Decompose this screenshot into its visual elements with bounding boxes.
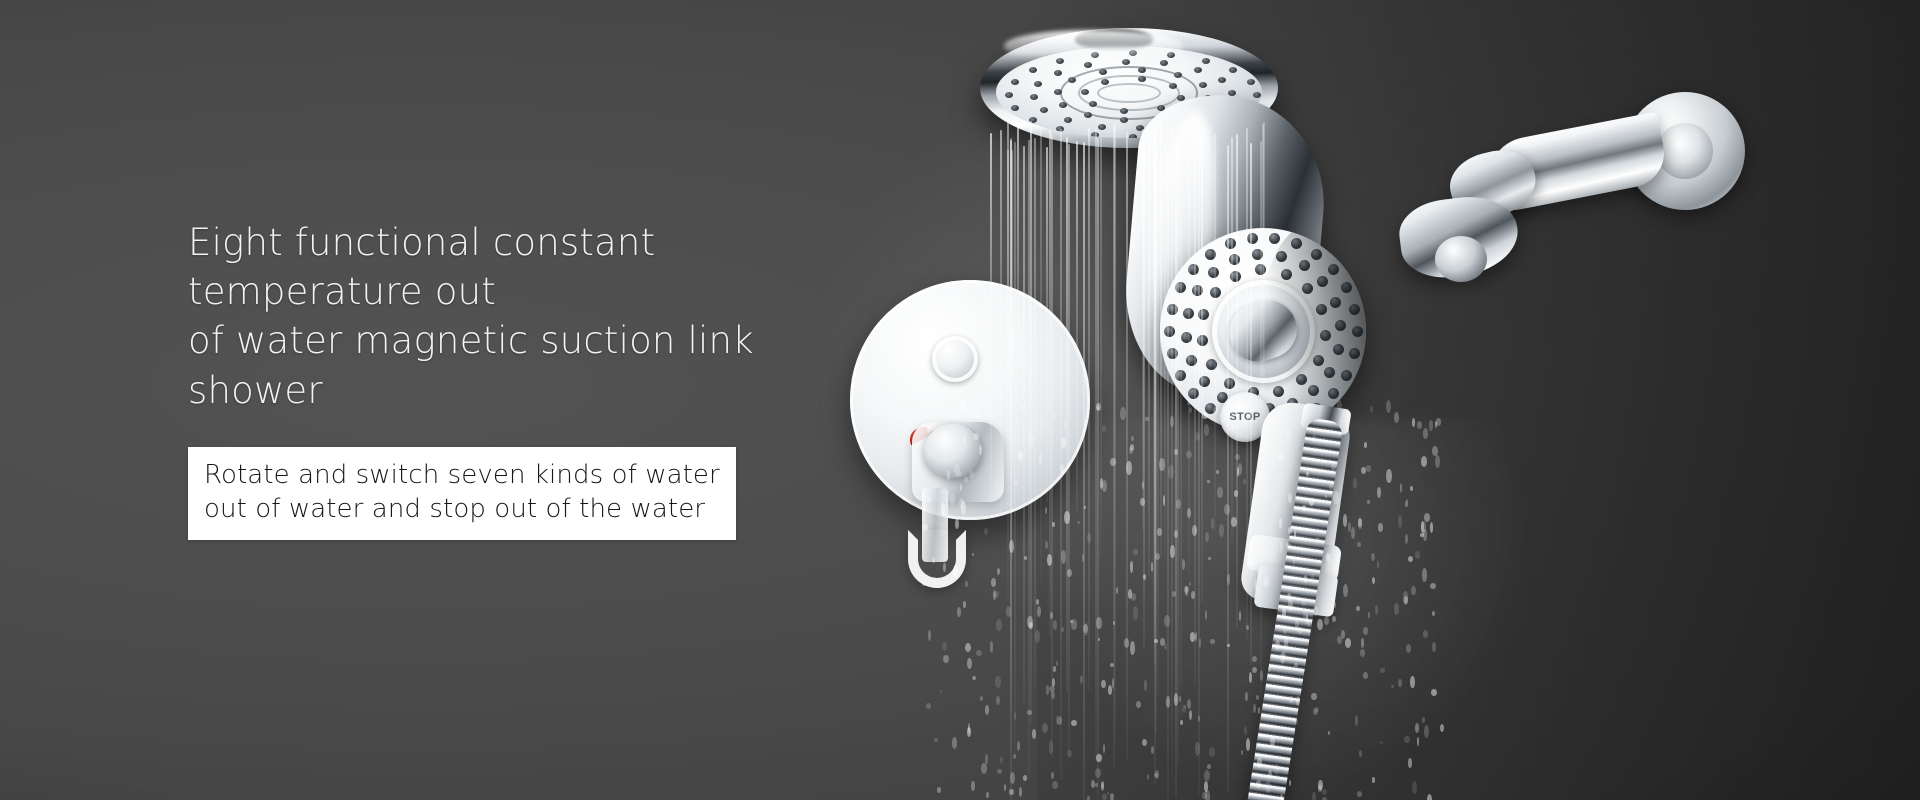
handheld-nozzle: [1164, 326, 1175, 337]
water-droplet: [1159, 458, 1165, 471]
water-droplet: [1363, 672, 1368, 679]
water-droplet: [1045, 541, 1049, 549]
handheld-nozzle: [1175, 370, 1186, 381]
water-droplet: [1423, 428, 1429, 439]
water-droplet: [1057, 716, 1063, 726]
water-droplet: [1174, 530, 1178, 538]
rain-nozzle: [1056, 126, 1064, 132]
rain-nozzle: [1030, 94, 1038, 100]
water-droplet: [1133, 606, 1139, 620]
handheld-nozzle: [1197, 335, 1208, 346]
water-droplet: [1145, 417, 1149, 422]
water-droplet: [1435, 421, 1437, 428]
subline-box: Rotate and switch seven kinds of water o…: [188, 447, 736, 541]
water-droplet: [1102, 425, 1106, 433]
water-droplet: [1195, 527, 1197, 534]
water-droplet: [1186, 451, 1191, 458]
water-droplet: [1436, 418, 1441, 426]
handheld-nozzle: [1208, 267, 1219, 278]
rain-nozzle: [1005, 92, 1013, 98]
water-droplet: [1417, 421, 1422, 429]
water-droplet: [1050, 612, 1053, 620]
rain-nozzle: [1138, 67, 1146, 73]
rain-nozzle: [1253, 92, 1261, 98]
water-droplet: [1421, 521, 1424, 533]
water-droplet: [1051, 772, 1054, 779]
water-droplet: [1101, 781, 1105, 791]
water-droplet: [1024, 556, 1027, 560]
water-droplet: [1170, 545, 1175, 558]
rain-nozzle: [1099, 69, 1107, 75]
water-droplet: [1398, 515, 1402, 528]
water-droplet: [1313, 708, 1318, 715]
water-droplet: [1095, 768, 1101, 778]
water-droplet: [1245, 692, 1248, 701]
water-droplet: [1429, 420, 1432, 431]
water-droplet: [984, 528, 989, 536]
water-droplet: [1187, 508, 1191, 518]
water-droplet: [1380, 668, 1385, 673]
water-droplet: [1056, 661, 1058, 666]
product-illustration: STOP: [980, 0, 1920, 800]
water-droplet: [1410, 486, 1413, 491]
water-droplet: [1176, 499, 1181, 509]
water-droplet: [1102, 794, 1107, 800]
rain-nozzle: [1129, 134, 1137, 138]
water-droplet: [1432, 642, 1437, 652]
water-droplet: [1198, 715, 1201, 722]
water-droplet: [980, 696, 984, 702]
water-droplet: [1424, 725, 1429, 738]
water-droplet: [1224, 504, 1230, 515]
water-droplet: [1142, 481, 1144, 489]
water-droplet: [1355, 715, 1358, 726]
water-droplet: [1179, 696, 1181, 702]
handheld-nozzle: [1198, 309, 1209, 320]
water-droplet: [1006, 606, 1011, 618]
water-droplet: [1234, 490, 1239, 496]
water-droplet: [1129, 447, 1134, 454]
water-droplet: [1019, 787, 1022, 797]
water-droplet: [1205, 610, 1207, 621]
water-droplet: [1185, 586, 1188, 595]
water-droplet: [985, 754, 987, 765]
handheld-nozzle: [1269, 233, 1280, 244]
water-droplet: [1082, 554, 1084, 562]
water-droplet: [1084, 506, 1086, 509]
water-droplet: [1289, 780, 1291, 787]
water-droplet: [1070, 620, 1073, 624]
water-droplet: [1143, 574, 1146, 580]
water-droplet: [1045, 507, 1047, 514]
rain-nozzle: [1011, 79, 1019, 85]
water-droplet: [1246, 625, 1249, 630]
water-droplet: [1360, 649, 1365, 657]
water-droplet: [1190, 632, 1196, 642]
water-droplet: [1204, 770, 1210, 781]
water-droplet: [1202, 792, 1206, 799]
handheld-nozzle: [1252, 249, 1263, 260]
water-droplet: [1174, 693, 1178, 706]
water-droplet: [1174, 449, 1179, 455]
water-droplet: [1357, 791, 1362, 797]
rain-nozzle: [1247, 79, 1255, 85]
water-stream: [1083, 142, 1085, 800]
rain-head-gloss: [1004, 30, 1183, 61]
water-droplet: [1432, 611, 1435, 616]
water-droplet: [994, 591, 999, 598]
water-droplet: [1386, 469, 1392, 483]
water-droplet: [1380, 741, 1383, 744]
water-droplet: [1061, 627, 1064, 632]
water-droplet: [1241, 750, 1243, 755]
water-droplet: [1042, 723, 1048, 733]
water-droplet: [1317, 619, 1323, 631]
water-droplet: [993, 590, 996, 601]
water-droplet: [1096, 754, 1101, 763]
water-droplet: [1032, 729, 1036, 739]
water-droplet: [1051, 691, 1056, 699]
water-droplet: [1131, 593, 1137, 601]
water-droplet: [1189, 582, 1192, 586]
handheld-nozzle: [1247, 233, 1258, 244]
water-droplet: [1252, 656, 1257, 662]
water-droplet: [996, 619, 1002, 631]
water-droplet: [1417, 737, 1419, 746]
water-droplet: [995, 676, 1001, 687]
water-droplet: [1098, 638, 1100, 641]
water-droplet: [1204, 424, 1209, 436]
water-droplet: [1235, 454, 1240, 460]
water-droplet: [1100, 478, 1103, 489]
handheld-nozzle: [1229, 254, 1240, 265]
water-droplet: [1084, 623, 1088, 635]
water-droplet: [1192, 525, 1197, 536]
water-droplet: [1189, 710, 1192, 721]
water-droplet: [1014, 712, 1017, 720]
water-droplet: [1155, 553, 1160, 560]
water-droplet: [1345, 638, 1351, 648]
water-droplet: [1210, 639, 1215, 644]
water-droplet: [1097, 406, 1099, 410]
water-droplet: [1406, 499, 1408, 502]
water-droplet: [1091, 780, 1095, 789]
water-droplet: [1400, 483, 1402, 493]
water-droplet: [1348, 522, 1352, 532]
water-droplet: [1404, 736, 1410, 743]
water-droplet: [1096, 403, 1102, 411]
handheld-nozzle: [1183, 308, 1194, 319]
water-droplet: [1398, 679, 1402, 687]
handheld-nozzle: [1188, 388, 1199, 399]
rain-nozzle: [1194, 67, 1202, 73]
water-droplet: [1182, 559, 1185, 570]
rain-nozzle: [1059, 102, 1067, 108]
water-droplet: [1009, 789, 1014, 796]
water-droplet: [1036, 599, 1039, 605]
water-droplet: [1101, 782, 1104, 789]
water-droplet: [1083, 624, 1088, 633]
water-droplet: [1027, 710, 1032, 715]
water-droplet: [1184, 705, 1187, 708]
rain-nozzle: [1068, 77, 1076, 83]
water-droplet: [1238, 463, 1243, 475]
water-droplet: [1328, 731, 1330, 735]
handheld-nozzle: [1206, 359, 1217, 370]
rain-nozzle: [1091, 132, 1099, 138]
water-droplet: [1049, 686, 1055, 692]
water-droplet: [1410, 676, 1415, 689]
water-droplet: [1199, 638, 1201, 648]
water-droplet: [1128, 589, 1133, 600]
water-droplet: [1422, 568, 1427, 582]
rain-nozzle: [1174, 72, 1182, 78]
water-droplet: [1101, 680, 1105, 688]
handheld-nozzle: [1210, 287, 1221, 298]
water-droplet: [1087, 533, 1091, 544]
water-droplet: [1432, 446, 1438, 455]
water-droplet: [996, 696, 1000, 705]
thermostatic-knob[interactable]: [924, 424, 982, 478]
bracket-pin-icon: [1435, 236, 1487, 282]
water-droplet: [1405, 501, 1408, 506]
water-stream: [1097, 138, 1099, 800]
water-droplet: [1322, 789, 1326, 795]
water-droplet: [1324, 617, 1329, 625]
water-droplet: [1415, 551, 1421, 559]
diverter-button[interactable]: [932, 336, 978, 382]
handheld-nozzle: [1192, 285, 1203, 296]
water-droplet: [997, 568, 1000, 575]
water-droplet: [1013, 754, 1016, 760]
water-droplet: [1337, 636, 1342, 644]
handheld-nozzle: [1224, 378, 1235, 389]
water-droplet: [1260, 670, 1264, 682]
handheld-nozzle: [1205, 249, 1216, 260]
water-droplet: [1358, 518, 1362, 529]
water-droplet: [1061, 550, 1066, 564]
rain-nozzle: [1084, 112, 1092, 118]
rain-nozzle: [1034, 81, 1042, 87]
water-droplet: [1353, 478, 1358, 489]
water-droplet: [1211, 518, 1214, 529]
water-droplet: [1067, 750, 1072, 757]
rain-nozzle: [1040, 107, 1048, 113]
rain-nozzle: [1098, 124, 1106, 130]
water-droplet: [1182, 705, 1187, 713]
stop-button-label: STOP: [1229, 411, 1260, 423]
water-droplet: [1046, 685, 1049, 695]
handheld-nozzle: [1230, 271, 1241, 282]
banner-subline: Rotate and switch seven kinds of water o…: [204, 459, 720, 527]
water-droplet: [1404, 596, 1408, 604]
water-droplet: [1377, 487, 1381, 498]
water-droplet: [1357, 542, 1361, 547]
water-droplet: [1207, 480, 1209, 484]
water-droplet: [990, 641, 994, 653]
rain-nozzle: [1081, 89, 1089, 95]
water-droplet: [1130, 641, 1135, 655]
handheld-nozzle: [1167, 304, 1178, 315]
water-droplet: [1361, 467, 1366, 474]
water-droplet: [1056, 715, 1058, 725]
water-droplet: [1110, 458, 1116, 466]
water-droplet: [1195, 432, 1200, 441]
water-droplet: [1113, 621, 1115, 626]
water-droplet: [1363, 627, 1368, 635]
water-droplet: [1216, 470, 1220, 474]
water-droplet: [1208, 557, 1211, 560]
water-droplet: [1253, 704, 1257, 713]
water-droplet: [1435, 455, 1440, 469]
water-droplet: [1204, 781, 1208, 792]
water-droplet: [1195, 632, 1197, 641]
water-droplet: [1370, 406, 1373, 414]
water-droplet: [1080, 675, 1083, 684]
water-droplet: [1207, 764, 1211, 769]
water-droplet: [1102, 480, 1107, 492]
water-droplet: [1209, 747, 1215, 757]
valve-trim-plate: [850, 280, 1090, 520]
water-droplet: [1108, 685, 1112, 695]
water-droplet: [1343, 514, 1348, 527]
water-droplet: [1131, 436, 1134, 441]
water-droplet: [1187, 699, 1191, 709]
water-droplet: [1096, 617, 1102, 630]
water-droplet: [1408, 556, 1413, 562]
water-droplet: [1053, 666, 1055, 672]
handheld-nozzle: [1225, 238, 1236, 249]
water-droplet: [1237, 467, 1239, 478]
water-droplet: [1422, 717, 1425, 723]
water-droplet: [1189, 407, 1192, 413]
rain-nozzle: [1029, 117, 1037, 123]
water-droplet: [1126, 461, 1132, 475]
water-droplet: [1361, 638, 1364, 648]
water-droplet: [1170, 416, 1173, 427]
water-droplet: [1364, 442, 1367, 448]
water-droplet: [1087, 796, 1091, 800]
water-droplet: [1377, 561, 1380, 568]
water-droplet: [1029, 622, 1033, 629]
water-droplet: [1420, 533, 1424, 537]
water-droplet: [1411, 586, 1415, 595]
water-droplet: [1315, 707, 1319, 712]
rain-nozzle: [1084, 62, 1092, 68]
rain-nozzle: [1199, 82, 1207, 88]
water-droplet: [1249, 672, 1252, 683]
banner-headline: Eight functional constant temperature ou…: [188, 218, 888, 415]
water-droplet: [1112, 678, 1114, 689]
rain-nozzle: [1138, 76, 1146, 82]
water-droplet: [1405, 534, 1408, 544]
water-droplet: [1359, 750, 1362, 758]
water-droplet: [1375, 605, 1378, 616]
water-droplet: [1053, 620, 1057, 630]
water-droplet: [1423, 630, 1429, 638]
water-droplet: [1163, 495, 1165, 506]
rain-nozzle: [1169, 83, 1177, 89]
water-droplet: [1168, 465, 1174, 479]
water-droplet: [1004, 784, 1006, 791]
rain-nozzle: [1101, 79, 1109, 85]
water-droplet: [1017, 741, 1020, 751]
rain-nozzle: [1029, 67, 1037, 73]
water-droplet: [1142, 739, 1148, 747]
water-droplet: [1252, 667, 1257, 673]
rain-nozzle: [1064, 117, 1072, 123]
water-droplet: [1120, 407, 1126, 420]
water-droplet: [1195, 742, 1200, 755]
water-droplet: [1035, 630, 1041, 643]
water-droplet: [1412, 781, 1417, 794]
water-droplet: [1191, 591, 1195, 599]
water-droplet: [1147, 774, 1149, 780]
water-droplet: [1394, 603, 1398, 615]
water-droplet: [1205, 532, 1209, 543]
water-stream: [1113, 125, 1115, 769]
handheld-nozzle: [1188, 264, 1199, 275]
water-droplet: [1318, 780, 1322, 790]
water-droplet: [1116, 587, 1119, 595]
water-droplet: [1160, 638, 1165, 646]
rain-nozzle: [1011, 105, 1019, 111]
rain-nozzle: [1218, 77, 1226, 83]
water-stream: [1076, 141, 1078, 513]
water-droplet: [1408, 758, 1411, 768]
rain-nozzle: [1160, 60, 1168, 66]
water-droplet: [1023, 775, 1028, 781]
rain-nozzle: [1120, 117, 1128, 123]
handheld-nozzle: [1167, 348, 1178, 359]
water-droplet: [1431, 689, 1437, 696]
handheld-nozzle: [1255, 264, 1266, 275]
water-droplet: [1372, 777, 1376, 783]
rain-nozzle: [1228, 90, 1236, 96]
water-droplet: [1157, 528, 1162, 537]
water-droplet: [986, 792, 989, 799]
product-banner: Eight functional constant temperature ou…: [0, 0, 1920, 800]
water-droplet: [1052, 678, 1055, 687]
water-droplet: [1427, 794, 1433, 800]
water-droplet: [1246, 738, 1251, 752]
rain-head-ring-inner: [1097, 83, 1161, 103]
water-stream: [1095, 129, 1097, 759]
water-droplet: [1256, 695, 1260, 700]
water-droplet: [1311, 693, 1317, 701]
water-droplet: [1172, 591, 1176, 598]
water-droplet: [1136, 701, 1141, 709]
water-droplet: [1164, 615, 1170, 627]
water-droplet: [1367, 500, 1371, 504]
water-droplet: [1394, 412, 1399, 424]
water-droplet: [1386, 400, 1391, 413]
water-droplet: [1037, 606, 1041, 617]
water-droplet: [1343, 584, 1348, 597]
water-droplet: [985, 705, 989, 715]
water-droplet: [1403, 591, 1409, 605]
water-droplet: [981, 763, 987, 775]
water-droplet: [1366, 465, 1371, 472]
water-droplet: [1027, 616, 1033, 628]
water-droplet: [1140, 498, 1145, 506]
water-droplet: [1064, 511, 1070, 524]
water-droplet: [1312, 792, 1316, 800]
rain-nozzle: [1202, 58, 1210, 64]
water-droplet: [991, 578, 996, 586]
water-droplet: [1154, 773, 1158, 777]
water-stream: [1126, 132, 1128, 761]
